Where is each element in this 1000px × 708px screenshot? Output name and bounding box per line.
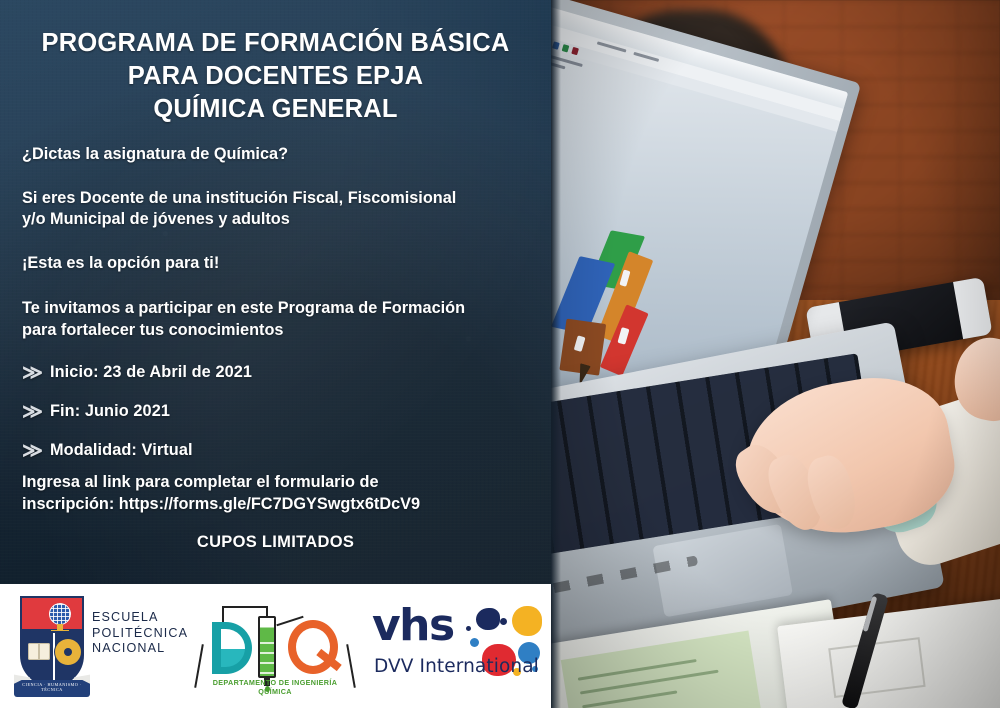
chevron-right-icon: ≫ — [22, 363, 50, 383]
crest-red-panel — [20, 596, 84, 631]
title-line-2: PARA DOCENTES EPJA — [0, 60, 551, 93]
audience-line-2: y/o Municipal de jóvenes y adultos — [22, 209, 542, 231]
invite-line-2: para fortalecer tus conocimientos — [22, 320, 542, 342]
registration-url[interactable]: inscripción: https://forms.gle/FC7DGYSwg… — [22, 493, 542, 515]
poster: PROGRAMA DE FORMACIÓN BÁSICA PARA DOCENT… — [0, 0, 1000, 708]
shield-divider — [53, 633, 55, 681]
green-sticky-note — [561, 630, 762, 708]
title-line-3: QUÍMICA GENERAL — [0, 93, 551, 126]
start-date-text: Inicio: 23 de Abril de 2021 — [50, 363, 252, 382]
vhs-logo: vhs DVV International — [372, 600, 544, 696]
list-item: ≫ Inicio: 23 de Abril de 2021 — [22, 353, 542, 392]
column-tray — [260, 672, 274, 674]
laptop-trackpad — [652, 524, 793, 617]
logo-dot-navy-small — [466, 626, 471, 631]
modality-text: Modalidad: Virtual — [50, 441, 193, 460]
diq-caption: DEPARTAMENTO DE INGENIERÍA QUÍMICA — [196, 678, 354, 696]
list-item: ≫ Fin: Junio 2021 — [22, 392, 542, 431]
audience-line-1: Si eres Docente de una institución Fisca… — [22, 188, 542, 210]
registration-link-block: Ingresa al link para completar el formul… — [22, 471, 542, 515]
intro-text: ¿Dictas la asignatura de Química? Si ere… — [22, 144, 542, 341]
crest-motto: CIENCIA · HUMANISMO · TÉCNICA — [14, 682, 90, 692]
logo-blob-yellow — [512, 606, 542, 636]
callout-text: ¡Esta es la opción para ti! — [22, 253, 542, 275]
column-tray — [260, 642, 274, 644]
link-instruction-text: Ingresa al link para completar el formul… — [22, 471, 542, 493]
handwriting-line — [582, 690, 677, 708]
apparatus-tube — [222, 606, 268, 608]
page-title: PROGRAMA DE FORMACIÓN BÁSICA PARA DOCENT… — [0, 27, 551, 126]
column-tray — [260, 662, 274, 664]
globe-icon — [49, 603, 71, 625]
list-item: ≫ Modalidad: Virtual — [22, 431, 542, 470]
details-list: ≫ Inicio: 23 de Abril de 2021 ≫ Fin: Jun… — [22, 353, 542, 470]
epn-crest-logo: CIENCIA · HUMANISMO · TÉCNICA — [14, 594, 90, 698]
column-tray — [260, 652, 274, 654]
chevron-right-icon: ≫ — [22, 441, 50, 461]
photo-left-edge — [551, 0, 561, 708]
book-spine — [38, 643, 40, 660]
book-icon — [28, 643, 50, 660]
logo-blob-navy — [476, 608, 500, 630]
epn-wordmark: ESCUELA POLITÉCNICA NACIONAL — [92, 610, 188, 657]
question-text: ¿Dictas la asignatura de Química? — [22, 144, 542, 166]
note-box — [828, 637, 925, 698]
epn-name-line-3: NACIONAL — [92, 641, 188, 657]
chevron-right-icon: ≫ — [22, 402, 50, 422]
diq-letter-i-column — [258, 616, 276, 678]
diq-logo: DEPARTAMENTO DE INGENIERÍA QUÍMICA — [196, 598, 354, 694]
vhs-wordmark: vhs — [372, 600, 454, 652]
epn-name-line-1: ESCUELA — [92, 610, 188, 626]
logo-footer: CIENCIA · HUMANISMO · TÉCNICA ESCUELA PO… — [0, 584, 551, 708]
epn-name-line-2: POLITÉCNICA — [92, 626, 188, 642]
logo-dot-navy — [500, 618, 507, 625]
vhs-subtitle: DVV International — [374, 656, 539, 677]
invite-line-1: Te invitamos a participar en este Progra… — [22, 298, 542, 320]
end-date-text: Fin: Junio 2021 — [50, 402, 170, 421]
info-panel: PROGRAMA DE FORMACIÓN BÁSICA PARA DOCENT… — [0, 0, 551, 584]
title-line-1: PROGRAMA DE FORMACIÓN BÁSICA — [0, 27, 551, 60]
laptop-photo — [551, 0, 1000, 708]
logo-dot-blue — [470, 638, 479, 647]
gear-icon — [58, 642, 78, 662]
limited-seats-text: CUPOS LIMITADOS — [0, 533, 551, 552]
